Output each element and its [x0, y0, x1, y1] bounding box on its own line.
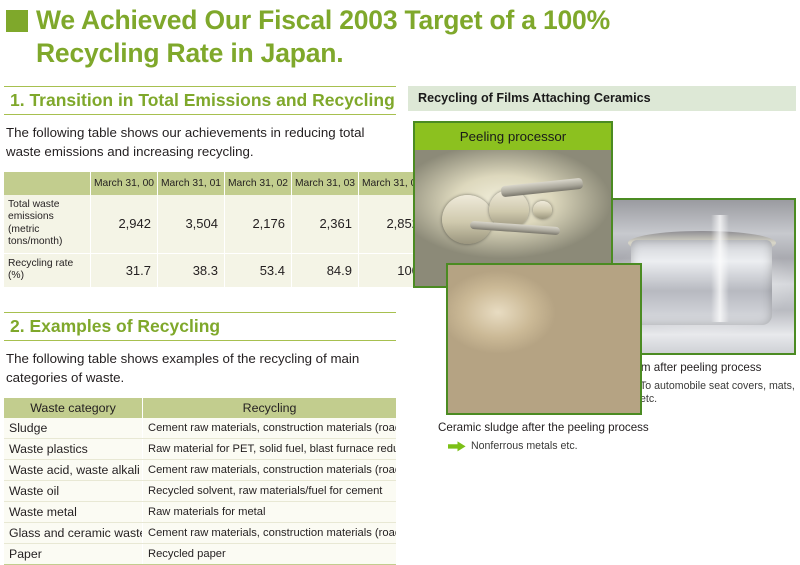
photo-collage: Peeling processor PET film after peeling… [408, 121, 796, 493]
emissions-col-0: March 31, 00 [91, 172, 158, 195]
emissions-row-1-value-2: 53.4 [225, 253, 292, 287]
examples-row-1-recycling: Raw material for PET, solid fuel, blast … [143, 438, 397, 459]
emissions-table-body: Total waste emissions (metric tons/month… [4, 195, 425, 288]
examples-row-6-recycling: Recycled paper [143, 543, 397, 564]
emissions-row-0-value-0: 2,942 [91, 195, 158, 254]
emissions-row-0-value-1: 3,504 [158, 195, 225, 254]
caption-pet-film-note-text: To automobile seat covers, mats, etc. [640, 380, 797, 406]
table-row: Waste plastics Raw material for PET, sol… [4, 438, 396, 459]
right-column: Recycling of Films Attaching Ceramics Pe… [408, 86, 796, 491]
section-1-title: 1. Transition in Total Emissions and Rec… [10, 90, 396, 110]
machine-roller-1 [442, 195, 493, 244]
photo-peeling-processor-label: Peeling processor [415, 123, 611, 150]
emissions-col-3: March 31, 03 [292, 172, 359, 195]
emissions-row-0-label-main: Total waste emissions [8, 199, 60, 223]
emissions-row-0-label-sub: (metric tons/month) [8, 224, 88, 249]
examples-row-0-category: Sludge [4, 418, 143, 439]
emissions-col-2: March 31, 02 [225, 172, 292, 195]
table-header-row: Waste category Recycling [4, 398, 396, 418]
photo-ceramic-sludge [446, 263, 642, 415]
right-panel-header: Recycling of Films Attaching Ceramics [408, 86, 796, 111]
left-column: 1. Transition in Total Emissions and Rec… [4, 86, 396, 565]
photo-ceramic-sludge-image [448, 265, 640, 413]
examples-row-0-recycling: Cement raw materials, construction mater… [143, 418, 397, 439]
table-row: Total waste emissions (metric tons/month… [4, 195, 425, 254]
examples-row-1-category: Waste plastics [4, 438, 143, 459]
examples-row-5-category: Glass and ceramic waste [4, 522, 143, 543]
machine-knob [533, 201, 553, 219]
pet-roll-body [631, 240, 772, 326]
table-row: Waste acid, waste alkali Cement raw mate… [4, 459, 396, 480]
caption-ceramic-sludge-text: Ceramic sludge after the peeling process [438, 421, 738, 436]
section-2-paragraph: The following table shows examples of th… [6, 349, 396, 388]
table-row: Waste oil Recycled solvent, raw material… [4, 480, 396, 501]
examples-row-3-category: Waste oil [4, 480, 143, 501]
arrow-right-icon [448, 441, 466, 456]
examples-table-head: Waste category Recycling [4, 398, 396, 418]
page-title-line-1: We Achieved Our Fiscal 2003 Target of a … [36, 4, 610, 37]
examples-row-5-recycling: Cement raw materials, construction mater… [143, 522, 397, 543]
caption-ceramic-sludge: Ceramic sludge after the peeling process… [438, 421, 738, 456]
emissions-row-0-value-2: 2,176 [225, 195, 292, 254]
examples-header-recycling: Recycling [143, 398, 397, 418]
section-header-1: 1. Transition in Total Emissions and Rec… [4, 86, 396, 115]
caption-ceramic-sludge-note: Nonferrous metals etc. [448, 440, 738, 456]
page-title: We Achieved Our Fiscal 2003 Target of a … [6, 4, 796, 70]
table-row: Paper Recycled paper [4, 543, 396, 564]
caption-pet-film-note: To automobile seat covers, mats, etc. [617, 380, 797, 406]
examples-row-3-recycling: Recycled solvent, raw materials/fuel for… [143, 480, 397, 501]
emissions-row-1-value-1: 38.3 [158, 253, 225, 287]
examples-table: Waste category Recycling Sludge Cement r… [4, 398, 396, 565]
examples-row-4-recycling: Raw materials for metal [143, 501, 397, 522]
examples-row-4-category: Waste metal [4, 501, 143, 522]
title-bullet-square [6, 10, 28, 32]
examples-row-6-category: Paper [4, 543, 143, 564]
emissions-row-1-label: Recycling rate (%) [4, 253, 91, 287]
emissions-row-1-label-main: Recycling rate (%) [8, 258, 73, 282]
emissions-row-1-value-0: 31.7 [91, 253, 158, 287]
table-row: Waste metal Raw materials for metal [4, 501, 396, 522]
emissions-corner-cell [4, 172, 91, 195]
examples-table-body: Sludge Cement raw materials, constructio… [4, 418, 396, 565]
page-title-text: We Achieved Our Fiscal 2003 Target of a … [36, 4, 610, 70]
section-2-title: 2. Examples of Recycling [10, 316, 396, 336]
emissions-table-head: March 31, 00 March 31, 01 March 31, 02 M… [4, 172, 425, 195]
section-spacer [4, 288, 396, 312]
page-title-line-2: Recycling Rate in Japan. [36, 37, 610, 70]
pet-roll-highlight [711, 215, 730, 322]
emissions-col-1: March 31, 01 [158, 172, 225, 195]
machine-shaft-1 [501, 177, 584, 197]
emissions-table: March 31, 00 March 31, 01 March 31, 02 M… [4, 172, 425, 288]
emissions-row-1-value-3: 84.9 [292, 253, 359, 287]
table-header-row: March 31, 00 March 31, 01 March 31, 02 M… [4, 172, 425, 195]
emissions-row-0-label: Total waste emissions (metric tons/month… [4, 195, 91, 254]
emissions-row-0-value-3: 2,361 [292, 195, 359, 254]
table-row: Sludge Cement raw materials, constructio… [4, 418, 396, 439]
examples-row-2-category: Waste acid, waste alkali [4, 459, 143, 480]
section-1-paragraph: The following table shows our achievemen… [6, 123, 396, 162]
table-row: Glass and ceramic waste Cement raw mater… [4, 522, 396, 543]
caption-ceramic-sludge-note-text: Nonferrous metals etc. [471, 440, 578, 453]
examples-row-2-recycling: Cement raw materials, construction mater… [143, 459, 397, 480]
table-row: Recycling rate (%) 31.7 38.3 53.4 84.9 1… [4, 253, 425, 287]
examples-header-category: Waste category [4, 398, 143, 418]
section-header-2: 2. Examples of Recycling [4, 312, 396, 341]
